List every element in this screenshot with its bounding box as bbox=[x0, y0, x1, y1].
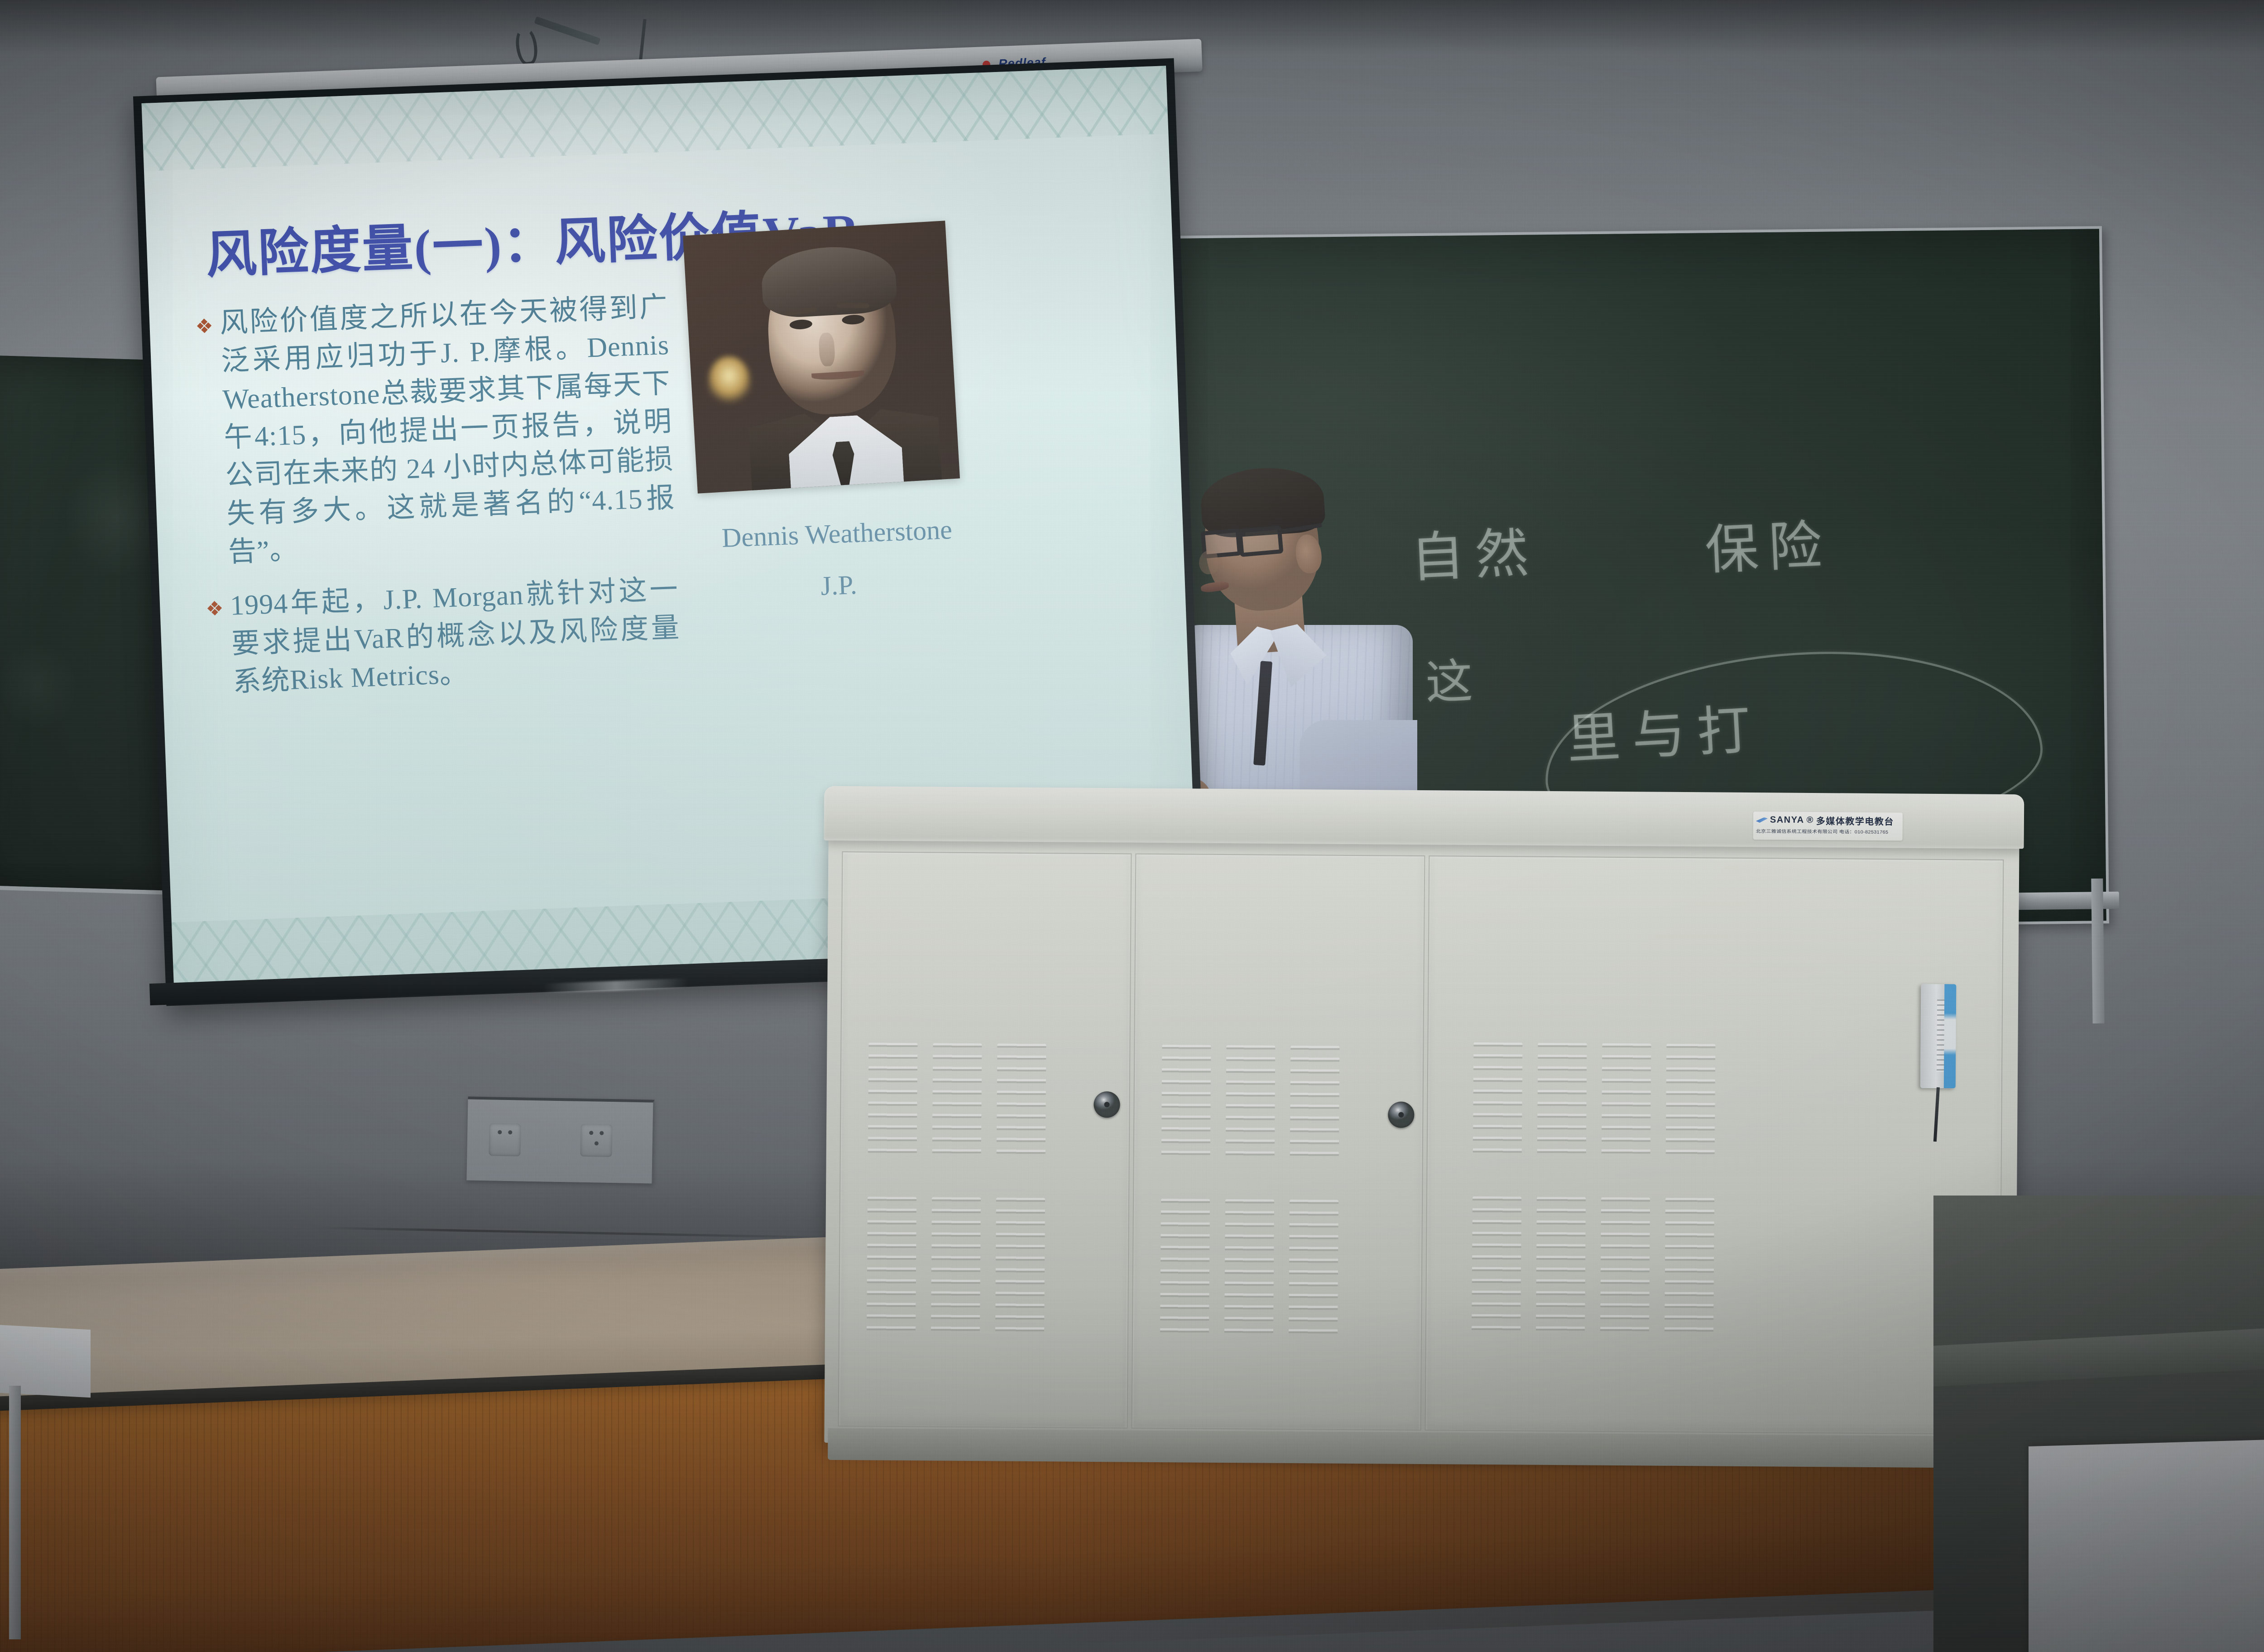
vent-column bbox=[1224, 1199, 1274, 1335]
portrait-background-lamp bbox=[707, 355, 752, 408]
power-socket-right[interactable] bbox=[580, 1124, 612, 1157]
bullet-marker-icon: ❖ bbox=[203, 599, 227, 619]
sanya-logo-icon bbox=[1756, 817, 1768, 823]
slide-bullet-2: ❖ 1994年起，J.P. Morgan就针对这一要求提出VaR的概念以及风险度… bbox=[202, 571, 682, 702]
portrait-hair bbox=[760, 244, 897, 319]
cabinet-door-right[interactable] bbox=[1425, 855, 2004, 1435]
student-desk-right[interactable] bbox=[2029, 1434, 2264, 1652]
vent-column bbox=[1664, 1198, 1714, 1334]
slide-bullet-2-text: 1994年起，J.P. Morgan就针对这一要求提出VaR的概念以及风险度量系… bbox=[230, 571, 682, 701]
socket-hole bbox=[595, 1141, 599, 1145]
bullet-marker-icon: ❖ bbox=[192, 316, 217, 337]
vent-column bbox=[1600, 1197, 1650, 1334]
vent-column bbox=[1536, 1197, 1586, 1333]
device-blue-label bbox=[1944, 984, 1957, 1088]
socket-hole bbox=[508, 1130, 512, 1134]
remote-holder-device[interactable] bbox=[1920, 984, 1957, 1089]
vent-column bbox=[1666, 1044, 1716, 1157]
socket-hole bbox=[589, 1131, 593, 1135]
cabinet-lock-right[interactable] bbox=[1388, 1101, 1414, 1128]
registered-mark-icon: ® bbox=[1807, 815, 1814, 826]
vent-column bbox=[1290, 1046, 1340, 1159]
vent-column bbox=[997, 1043, 1046, 1157]
vent-column bbox=[1226, 1045, 1276, 1159]
chalk-dust bbox=[0, 355, 169, 891]
av-podium-cabinet[interactable]: SANYA ® 多媒体教学电教台 北京三雅诚信系统工程技术有限公司 电话：010… bbox=[820, 786, 2024, 1492]
socket-hole bbox=[498, 1130, 502, 1134]
socket-hole bbox=[600, 1131, 604, 1135]
slide-body: ❖ 风险价值度之所以在今天被得到广泛采用应归功于J. P.摩根。Dennis W… bbox=[192, 288, 682, 718]
vent-column bbox=[1473, 1042, 1523, 1156]
vent-group-lower-left bbox=[867, 1196, 1089, 1334]
vent-group-lower-middle bbox=[1160, 1199, 1383, 1336]
cabinet-brand-name: SANYA bbox=[1770, 815, 1804, 826]
vent-column bbox=[931, 1197, 981, 1333]
floor-step-strip bbox=[1933, 1317, 2264, 1386]
vent-column bbox=[1537, 1043, 1587, 1157]
cabinet-brand-line: SANYA ® 多媒体教学电教台 bbox=[1756, 813, 1900, 827]
slide-bullet-1-text: 风险价值度之所以在今天被得到广泛采用应归功于J. P.摩根。Dennis Wea… bbox=[219, 288, 677, 571]
cabinet-lock-left[interactable] bbox=[1094, 1091, 1120, 1118]
cabinet-company-line: 北京三雅诚信系统工程技术有限公司 电话：010-82531765 bbox=[1756, 828, 1900, 836]
vent-column bbox=[1472, 1196, 1521, 1333]
desk-left-leg bbox=[9, 1386, 21, 1639]
vent-column bbox=[1289, 1200, 1338, 1336]
vent-group-upper-right bbox=[1473, 1042, 1768, 1158]
vent-column bbox=[932, 1043, 982, 1157]
caption-line-2: J.P. bbox=[680, 557, 998, 615]
cabinet-brand-plate: SANYA ® 多媒体教学电教台 北京三雅诚信系统工程技术有限公司 电话：010… bbox=[1753, 812, 1903, 840]
vent-column bbox=[867, 1196, 916, 1333]
classroom-scene: 自然 这 里与打 20 保险 Redleaf bbox=[0, 0, 2264, 1652]
blackboard-support-post bbox=[2091, 879, 2104, 1023]
slide-photo-caption: Dennis Weatherstone J.P. bbox=[678, 505, 998, 615]
portrait-brow-right bbox=[837, 303, 869, 308]
slide-portrait-photo bbox=[683, 221, 960, 493]
vent-column bbox=[1602, 1043, 1651, 1157]
cabinet-door-left[interactable] bbox=[838, 851, 1132, 1428]
vent-column bbox=[995, 1197, 1045, 1334]
cabinet-body bbox=[824, 836, 2019, 1451]
power-socket-left[interactable] bbox=[489, 1123, 521, 1156]
glasses-right-lens-icon bbox=[1238, 525, 1283, 557]
vent-column bbox=[1160, 1199, 1210, 1335]
glasses-bridge-icon bbox=[1237, 532, 1246, 537]
wall-outlet-panel[interactable] bbox=[466, 1096, 654, 1183]
vent-column bbox=[1161, 1045, 1211, 1158]
vent-group-upper-left bbox=[868, 1042, 1091, 1157]
vent-column bbox=[868, 1042, 918, 1156]
caption-line-1: Dennis Weatherstone bbox=[678, 505, 996, 563]
cabinet-door-middle[interactable] bbox=[1132, 854, 1425, 1431]
slide-bullet-1: ❖ 风险价值度之所以在今天被得到广泛采用应归功于J. P.摩根。Dennis W… bbox=[192, 288, 677, 572]
cabinet-product-label: 多媒体教学电教台 bbox=[1816, 814, 1894, 827]
vent-group-upper-middle bbox=[1161, 1045, 1384, 1159]
vent-group-lower-right bbox=[1472, 1196, 1767, 1335]
